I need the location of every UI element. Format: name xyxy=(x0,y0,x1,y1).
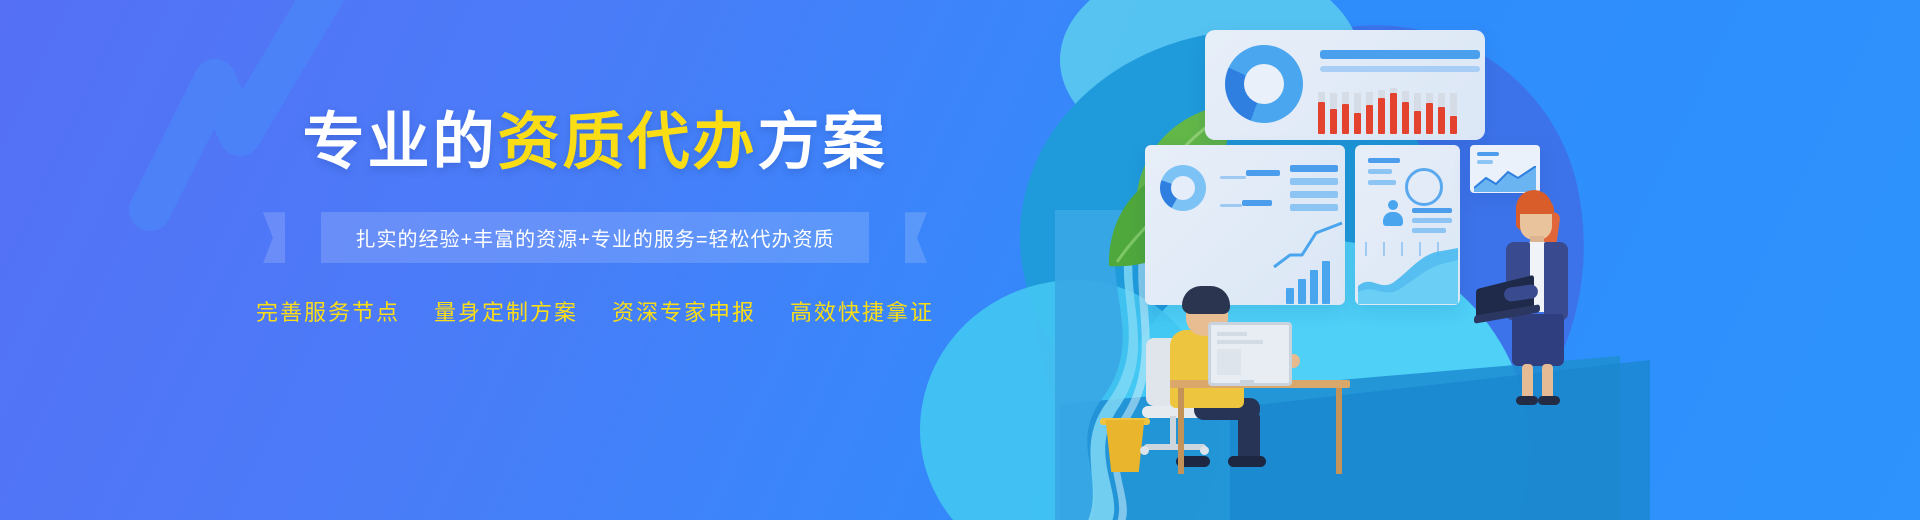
avatar-body xyxy=(1383,212,1403,226)
ribbon-tail-left xyxy=(263,212,285,263)
woman-skirt xyxy=(1512,314,1564,366)
headline-part-white-tail: 方案 xyxy=(758,105,888,178)
connector-line-1 xyxy=(1220,176,1246,179)
mr-text-line-5 xyxy=(1412,218,1452,223)
connector-line-2 xyxy=(1220,204,1242,207)
sm-text-line-1 xyxy=(1477,152,1499,156)
bar-chart-red-bar xyxy=(1426,103,1433,134)
monitor-stand xyxy=(1240,380,1254,386)
woman-shoe-left xyxy=(1516,396,1538,405)
donut-chart-small xyxy=(1160,165,1206,211)
bar-chart-red-bar xyxy=(1390,93,1397,134)
text-block-line-4 xyxy=(1290,204,1338,211)
desktop-monitor xyxy=(1208,322,1292,386)
monitor-screen-line-1 xyxy=(1217,332,1247,336)
bar-chart-red-bar-cap xyxy=(1402,91,1409,101)
bar-chart-red-bar xyxy=(1354,113,1361,134)
tagline-list: 完善服务节点 量身定制方案 资深专家申报 高效快捷拿证 xyxy=(285,295,905,327)
subtitle-ribbon: 扎实的经验+丰富的资源+专业的服务=轻松代办资质 xyxy=(285,212,905,263)
mr-text-line-3 xyxy=(1368,180,1396,185)
ring-indicator-icon xyxy=(1405,168,1443,206)
header-bar-secondary xyxy=(1320,66,1480,72)
bar-chart-red-bar xyxy=(1378,98,1385,134)
avatar-head xyxy=(1388,200,1398,210)
chair-pole xyxy=(1170,416,1176,446)
bar-chart-red-bar xyxy=(1438,107,1445,134)
text-block-line-3 xyxy=(1290,191,1338,198)
bar-chart-red-bar-cap xyxy=(1438,93,1445,107)
chair-wheel-left xyxy=(1140,446,1149,455)
tagline-item-4: 高效快捷拿证 xyxy=(790,295,934,327)
donut-chart-large xyxy=(1225,45,1303,123)
monitor-screen-panel xyxy=(1217,349,1241,375)
monitor-screen-line-2 xyxy=(1217,340,1263,344)
woman-leg-right xyxy=(1542,364,1553,400)
woman-hair-front xyxy=(1516,196,1554,214)
mr-text-line-6 xyxy=(1412,228,1446,233)
woman-jacket-right xyxy=(1544,242,1568,320)
bar-chart-red-bar-cap xyxy=(1378,90,1385,97)
text-line-1 xyxy=(1246,170,1280,176)
bar-chart-red-bar-cap xyxy=(1330,93,1337,109)
area-chart-card-mid-right xyxy=(1358,242,1458,304)
sm-text-line-2 xyxy=(1477,160,1493,164)
bar-chart-red-bar xyxy=(1318,102,1325,134)
bar-chart-red-bar xyxy=(1342,104,1349,134)
banner-copy: 专业的资质代办方案 扎实的经验+丰富的资源+专业的服务=轻松代办资质 完善服务节… xyxy=(285,108,905,327)
mr-text-line-2 xyxy=(1368,169,1392,174)
analytics-illustration xyxy=(1050,0,1770,520)
mini-bar xyxy=(1310,270,1318,304)
bar-chart-red-bar-cap xyxy=(1450,93,1457,116)
person-avatar-icon xyxy=(1382,200,1404,226)
line-chart-small xyxy=(1474,166,1536,192)
woman-shoe-right xyxy=(1538,396,1560,405)
bar-chart-red-bar-cap xyxy=(1342,92,1349,103)
promo-banner: 专业的资质代办方案 扎实的经验+丰富的资源+专业的服务=轻松代办资质 完善服务节… xyxy=(0,0,1920,520)
bar-chart-red-bar xyxy=(1450,116,1457,134)
text-block-line-2 xyxy=(1290,178,1338,185)
bar-chart-red-bar-cap xyxy=(1318,92,1325,101)
bar-chart-red-bar-cap xyxy=(1414,93,1421,111)
bar-chart-red-bar-cap xyxy=(1366,92,1373,104)
man-at-desk xyxy=(1110,280,1310,460)
ribbon-tail-right xyxy=(905,212,927,263)
mr-text-line-1 xyxy=(1368,158,1400,163)
tagline-item-2: 量身定制方案 xyxy=(434,295,578,327)
woman-leg-left xyxy=(1522,364,1533,400)
tagline-item-3: 资深专家申报 xyxy=(612,295,756,327)
tagline-item-1: 完善服务节点 xyxy=(256,295,400,327)
text-block-line-1 xyxy=(1290,165,1338,172)
subtitle-text: 扎实的经验+丰富的资源+专业的服务=轻松代办资质 xyxy=(321,212,868,263)
bar-chart-red-bar xyxy=(1366,105,1373,134)
bar-chart-red xyxy=(1318,82,1484,134)
mini-bar xyxy=(1322,261,1330,304)
bar-chart-red-bar xyxy=(1330,109,1337,134)
bar-chart-red-bar-cap xyxy=(1390,88,1397,93)
desk-leg-left xyxy=(1178,388,1184,474)
bar-chart-red-bar xyxy=(1402,102,1409,134)
bar-chart-red-bar-cap xyxy=(1354,93,1361,113)
headline-part-yellow: 资质代办 xyxy=(497,105,757,178)
header-bar-primary xyxy=(1320,50,1480,59)
text-line-2 xyxy=(1242,200,1272,206)
man-shoe-front xyxy=(1228,456,1266,467)
headline-part-white: 专业的 xyxy=(302,105,497,178)
woman-with-laptop xyxy=(1480,190,1610,405)
mr-text-line-4 xyxy=(1412,208,1452,213)
page-title: 专业的资质代办方案 xyxy=(285,108,905,176)
chair-wheel-right xyxy=(1200,446,1209,455)
desk-leg-right xyxy=(1336,388,1342,474)
chair-base xyxy=(1144,444,1206,450)
man-hair xyxy=(1182,286,1230,314)
bar-chart-red-bar-cap xyxy=(1426,93,1433,102)
man-shin xyxy=(1238,410,1260,462)
bar-chart-red-bar xyxy=(1414,111,1421,134)
